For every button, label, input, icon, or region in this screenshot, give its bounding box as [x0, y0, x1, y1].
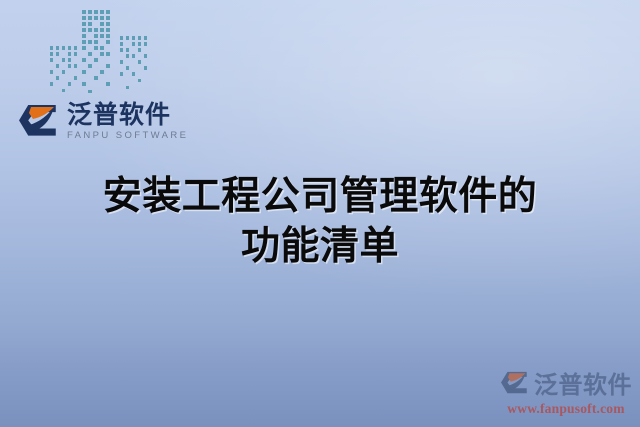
- headline-block: 安装工程公司管理软件的 功能清单: [0, 172, 640, 272]
- watermark-brand-name: 泛普软件: [534, 365, 632, 400]
- watermark-brand-row: 泛普软件: [500, 365, 632, 400]
- brand-logo: 泛普软件 FANPU SOFTWARE: [18, 97, 190, 145]
- headline-line-2: 功能清单: [0, 222, 640, 272]
- brand-name-cn: 泛普软件: [67, 102, 188, 127]
- pixel-skyline-graphic: [46, 4, 158, 100]
- brand-name-en: FANPU SOFTWARE: [67, 131, 188, 141]
- headline-line-1: 安装工程公司管理软件的: [0, 172, 640, 222]
- promo-banner: 泛普软件 FANPU SOFTWARE 安装工程公司管理软件的 功能清单 泛普软…: [0, 0, 640, 427]
- watermark-url: www.fanpusoft.com: [507, 401, 624, 417]
- brand-logo-text: 泛普软件 FANPU SOFTWARE: [67, 102, 188, 141]
- watermark-logo-mark-icon: [500, 369, 530, 397]
- watermark: 泛普软件 www.fanpusoft.com: [500, 365, 632, 417]
- fanpu-logo-mark-icon: [18, 101, 60, 141]
